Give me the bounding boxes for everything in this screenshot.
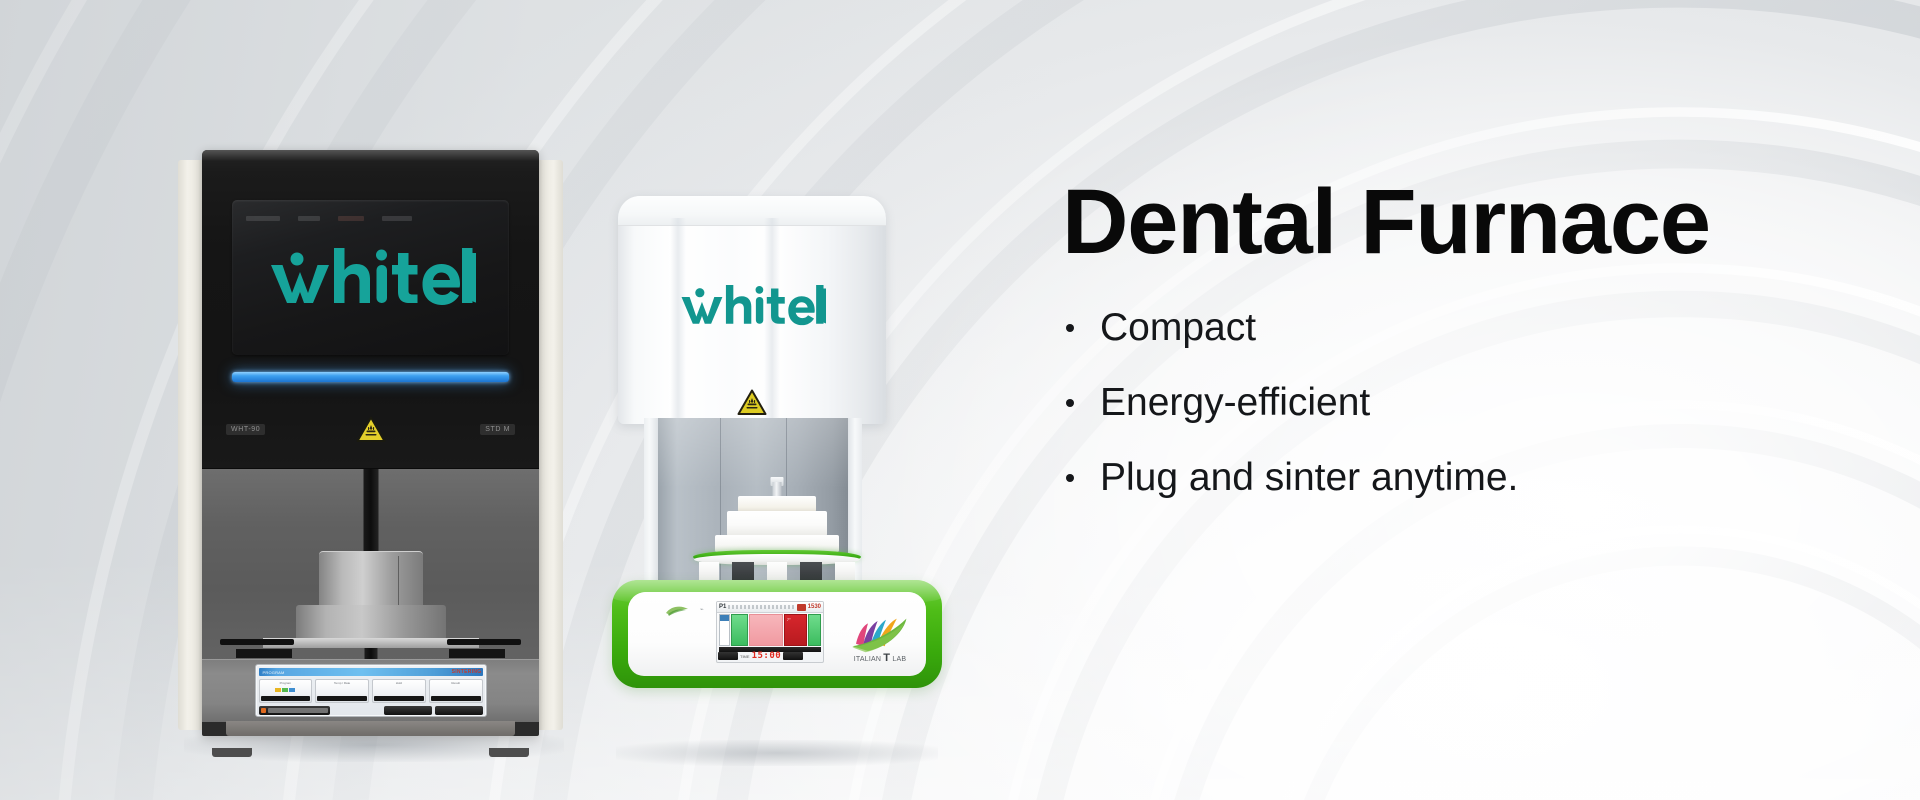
left-furnace-base-strip [226,721,515,736]
left-furnace-start-button[interactable] [259,706,331,715]
right-furnace-hood-lid [618,196,886,226]
marketing-text-block: Dental Furnace Compact Energy-efficient … [1062,176,1862,497]
chart-bar-red: 7° [784,614,808,646]
left-furnace-firing-chamber [202,469,539,662]
right-furnace-green-base: ⌁ P1 1530 7° [612,580,942,688]
temperature-value: 1530 [808,604,821,610]
tile-color-swatch [275,688,295,692]
heating-icon [797,604,806,611]
chart-bar-green [731,614,749,646]
left-furnace-crucible-upper [319,551,423,608]
right-furnace-front-panel: ⌁ P1 1530 7° [628,592,926,676]
list-item-label: Plug and sinter anytime. [1100,456,1518,499]
tile-bar [431,696,481,701]
left-furnace-led-strip [232,372,509,382]
left-furnace-screen-statusbar [246,216,495,223]
brand-prefix: ITALIAN [854,656,881,663]
left-furnace-bracket-right [449,649,505,658]
left-furnace-side-rail-right [535,160,563,730]
right-furnace-shadow [616,740,938,766]
chart-bar-blue [719,614,730,646]
whiteth-logo-icon [678,282,826,326]
right-furnace-product-image: ⌁ P1 1530 7° [612,196,942,756]
left-furnace-panel-header-text: PROGRAM [263,670,285,675]
left-furnace-model-badge-left: WHT-90 [226,424,265,435]
brand-badge-text: ITALIAN T LAB [844,652,916,664]
page-title: Dental Furnace [1062,176,1862,268]
brand-letter: T [883,652,890,664]
left-furnace-foot-left [212,748,252,757]
program-number-label: P1 [719,604,726,610]
feature-list: Compact Energy-efficient Plug and sinter… [1062,308,1862,497]
left-furnace-control-panel-bay: PROGRAM SINTERING Program Temp / Rate [202,659,539,722]
left-furnace-display-screen[interactable] [232,200,509,355]
left-furnace-panel-tile[interactable]: Result [429,679,483,703]
lcd-header: P1 1530 [717,602,823,613]
list-item: Energy-efficient [1062,383,1862,422]
left-furnace-panel-tile[interactable]: Temp / Rate [315,679,369,703]
brand-suffix: LAB [892,656,906,663]
chamber-highlight [658,418,848,488]
lcd-firing-curve-chart: 7° [719,614,821,646]
bullet-dot-icon [1066,324,1074,332]
right-furnace-crucible-tier-top [738,496,816,512]
lcd-footer-controls: TIME 15:00 [718,651,822,661]
left-furnace-feet [202,748,539,758]
leaf-emblem-icon [664,604,690,617]
left-furnace-stop-button[interactable] [435,706,483,715]
left-furnace-panel-buttons [259,706,483,715]
right-furnace-logo-container [618,282,886,326]
bullet-dot-icon [1066,474,1074,482]
countdown-timer-value: 15:00 [752,651,782,661]
list-item: Compact [1062,308,1862,347]
right-furnace-column-left [644,418,658,588]
power-led-icon [261,708,266,713]
left-furnace-set-button[interactable] [384,706,432,715]
bullet-dot-icon [1066,399,1074,407]
tile-bar [317,696,367,701]
panel-small-mark: ⌁ [700,606,704,613]
tile-caption: Hold [375,681,423,685]
left-furnace-panel-header: PROGRAM [259,668,483,676]
tile-caption: Program [262,681,310,685]
tile-caption: Result [432,681,480,685]
right-furnace-hood [618,196,886,424]
left-furnace-panel-tile[interactable]: Hold [372,679,426,703]
right-furnace-crucible-tier-mid [727,511,827,536]
left-furnace-control-panel[interactable]: PROGRAM SINTERING Program Temp / Rate [255,664,487,717]
list-item-label: Compact [1100,306,1256,349]
tile-caption: Temp / Rate [318,681,366,685]
left-furnace-rail-right [447,639,521,645]
lcd-header-text [728,605,794,609]
left-furnace-panel-tile[interactable]: Program [259,679,313,703]
dental-furnace-banner: WHT-90 STD M [0,0,1920,800]
chart-bar-green2 [808,614,821,646]
button-label [268,708,329,713]
left-furnace-product-image: WHT-90 STD M [178,150,563,750]
panel-gap [333,706,381,715]
left-furnace-panel-brand: SINTERING [452,669,482,675]
timer-caption: TIME [740,654,750,659]
left-furnace-model-badge-right: STD M [480,424,515,435]
left-furnace-logo-container [232,244,509,306]
left-furnace-crucible-base [296,605,446,641]
tile-bar [374,696,424,701]
left-furnace-upper-housing: WHT-90 STD M [202,150,539,469]
list-item-label: Energy-efficient [1100,381,1370,424]
lcd-start-button[interactable] [783,652,803,660]
left-furnace-bracket-left [236,649,292,658]
whiteth-logo-icon [266,244,476,306]
left-furnace-foot-right [489,748,529,757]
tile-bar [261,696,311,701]
list-item: Plug and sinter anytime. [1062,458,1862,497]
right-furnace-lcd-screen[interactable]: P1 1530 7° TIME [716,601,824,663]
hot-surface-warning-triangle-icon [356,416,386,443]
hot-surface-warning-triangle-icon [737,389,767,416]
left-furnace-panel-tiles: Program Temp / Rate Hold [259,679,483,703]
italian-lab-brand-badge: ITALIAN T LAB [844,608,916,666]
colorful-feather-flame-icon [844,608,916,658]
lcd-menu-button[interactable] [718,652,738,660]
chart-bar-pink [749,614,782,646]
left-furnace-body: WHT-90 STD M [202,150,539,736]
left-furnace-rail-left [220,639,294,645]
